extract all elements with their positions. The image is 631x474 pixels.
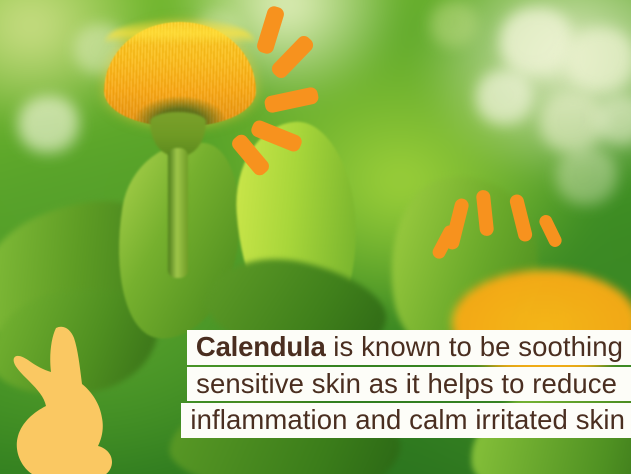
caption-line-1: Calendula is known to be soothing bbox=[0, 330, 631, 365]
brand-word: Calendula bbox=[196, 331, 326, 362]
caption-line-3: inflammation and calm irritated skin bbox=[0, 403, 631, 438]
bokeh-disc bbox=[476, 70, 534, 126]
caption-line-3-text: inflammation and calm irritated skin bbox=[181, 403, 631, 438]
caption-block: Calendula is known to be soothing sensit… bbox=[0, 330, 631, 438]
caption-line-2: sensitive skin as it helps to reduce bbox=[0, 367, 631, 402]
bokeh-disc bbox=[430, 2, 478, 48]
calendula-stem bbox=[168, 148, 188, 278]
bokeh-disc bbox=[566, 28, 631, 94]
bokeh-disc bbox=[500, 8, 574, 78]
bokeh-disc bbox=[18, 96, 80, 154]
bokeh-disc bbox=[556, 148, 618, 206]
caption-line-2-text: sensitive skin as it helps to reduce bbox=[187, 367, 631, 402]
caption-line-1-rest: is known to be soothing bbox=[326, 331, 623, 362]
calendula-promo-image: Calendula is known to be soothing sensit… bbox=[0, 0, 631, 474]
bokeh-disc bbox=[596, 96, 631, 146]
